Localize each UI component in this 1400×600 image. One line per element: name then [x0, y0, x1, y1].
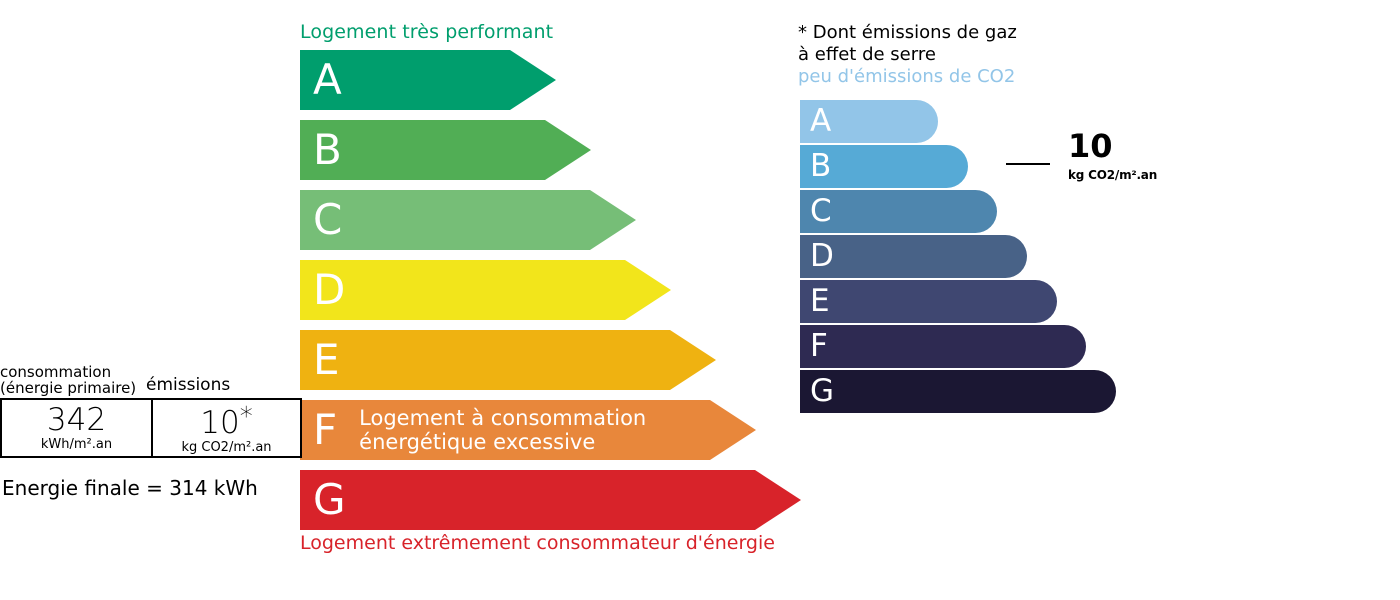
energy-band-c: C	[300, 190, 636, 250]
band-letter: B	[810, 151, 831, 182]
energy-band-g: G	[300, 470, 801, 530]
ges-sub-label: peu d'émissions de CO2	[798, 66, 1017, 88]
ges-band-g: G	[800, 370, 1116, 413]
value-boxes: 342 kWh/m².an 10* kg CO2/m².an	[0, 398, 302, 458]
ges-band-b: B	[800, 145, 968, 188]
band-letter: B	[313, 129, 342, 171]
band-letter: F	[313, 409, 337, 451]
band-arrow-shape	[300, 120, 591, 180]
band-caption: Logement à consommation énergétique exce…	[359, 406, 646, 454]
energy-top-label: Logement très performant	[300, 21, 553, 43]
ges-band-c: C	[800, 190, 997, 233]
consumption-unit: kWh/m².an	[41, 438, 112, 452]
consumption-title: consommation (énergie primaire)	[0, 364, 136, 396]
band-arrow-shape	[300, 260, 671, 320]
band-letter: A	[313, 59, 342, 101]
band-letter: D	[810, 241, 834, 272]
band-letter: E	[810, 286, 830, 317]
consumption-summary: consommation (énergie primaire) émission…	[0, 366, 305, 458]
consumption-value-cell: 342 kWh/m².an	[2, 400, 151, 456]
energy-band-b: B	[300, 120, 591, 180]
ges-callout-value: 10	[1068, 130, 1113, 162]
ges-band-d: D	[800, 235, 1027, 278]
consumption-value: 342	[47, 405, 106, 435]
band-letter: C	[810, 196, 832, 227]
ges-callout-unit: kg CO2/m².an	[1068, 168, 1157, 182]
band-letter: F	[810, 331, 828, 362]
energy-rating-scale: ABCDEFLogement à consommation énergétiqu…	[300, 50, 770, 540]
band-letter: C	[313, 199, 342, 241]
band-letter: A	[810, 106, 831, 137]
summary-titles: consommation (énergie primaire) émission…	[0, 366, 305, 398]
ges-band-e: E	[800, 280, 1057, 323]
band-letter: G	[313, 479, 346, 521]
emissions-title: émissions	[146, 375, 230, 395]
emissions-footnote-star: *	[240, 402, 253, 432]
band-arrow-shape	[300, 190, 636, 250]
band-letter: G	[810, 376, 834, 407]
callout-leader-line-icon	[1006, 163, 1050, 165]
ges-band-f: F	[800, 325, 1086, 368]
final-energy-label: Energie finale = 314 kWh	[2, 476, 258, 500]
ges-band-a: A	[800, 100, 938, 143]
ges-note-line1: * Dont émissions de gaz	[798, 22, 1017, 44]
emissions-value-cell: 10* kg CO2/m².an	[151, 400, 300, 456]
band-arrow-shape	[300, 470, 801, 530]
band-arrow-shape	[300, 330, 716, 390]
emissions-unit: kg CO2/m².an	[181, 441, 271, 455]
emissions-value: 10	[200, 405, 239, 441]
band-letter: E	[313, 339, 340, 381]
emissions-value-wrap: 10*	[200, 402, 252, 438]
energy-band-d: D	[300, 260, 671, 320]
energy-band-a: A	[300, 50, 556, 110]
ges-note: * Dont émissions de gaz à effet de serre…	[798, 22, 1017, 88]
ges-note-line2: à effet de serre	[798, 44, 1017, 66]
energy-band-e: E	[300, 330, 716, 390]
energy-band-f: FLogement à consommation énergétique exc…	[300, 400, 756, 460]
band-letter: D	[313, 269, 345, 311]
